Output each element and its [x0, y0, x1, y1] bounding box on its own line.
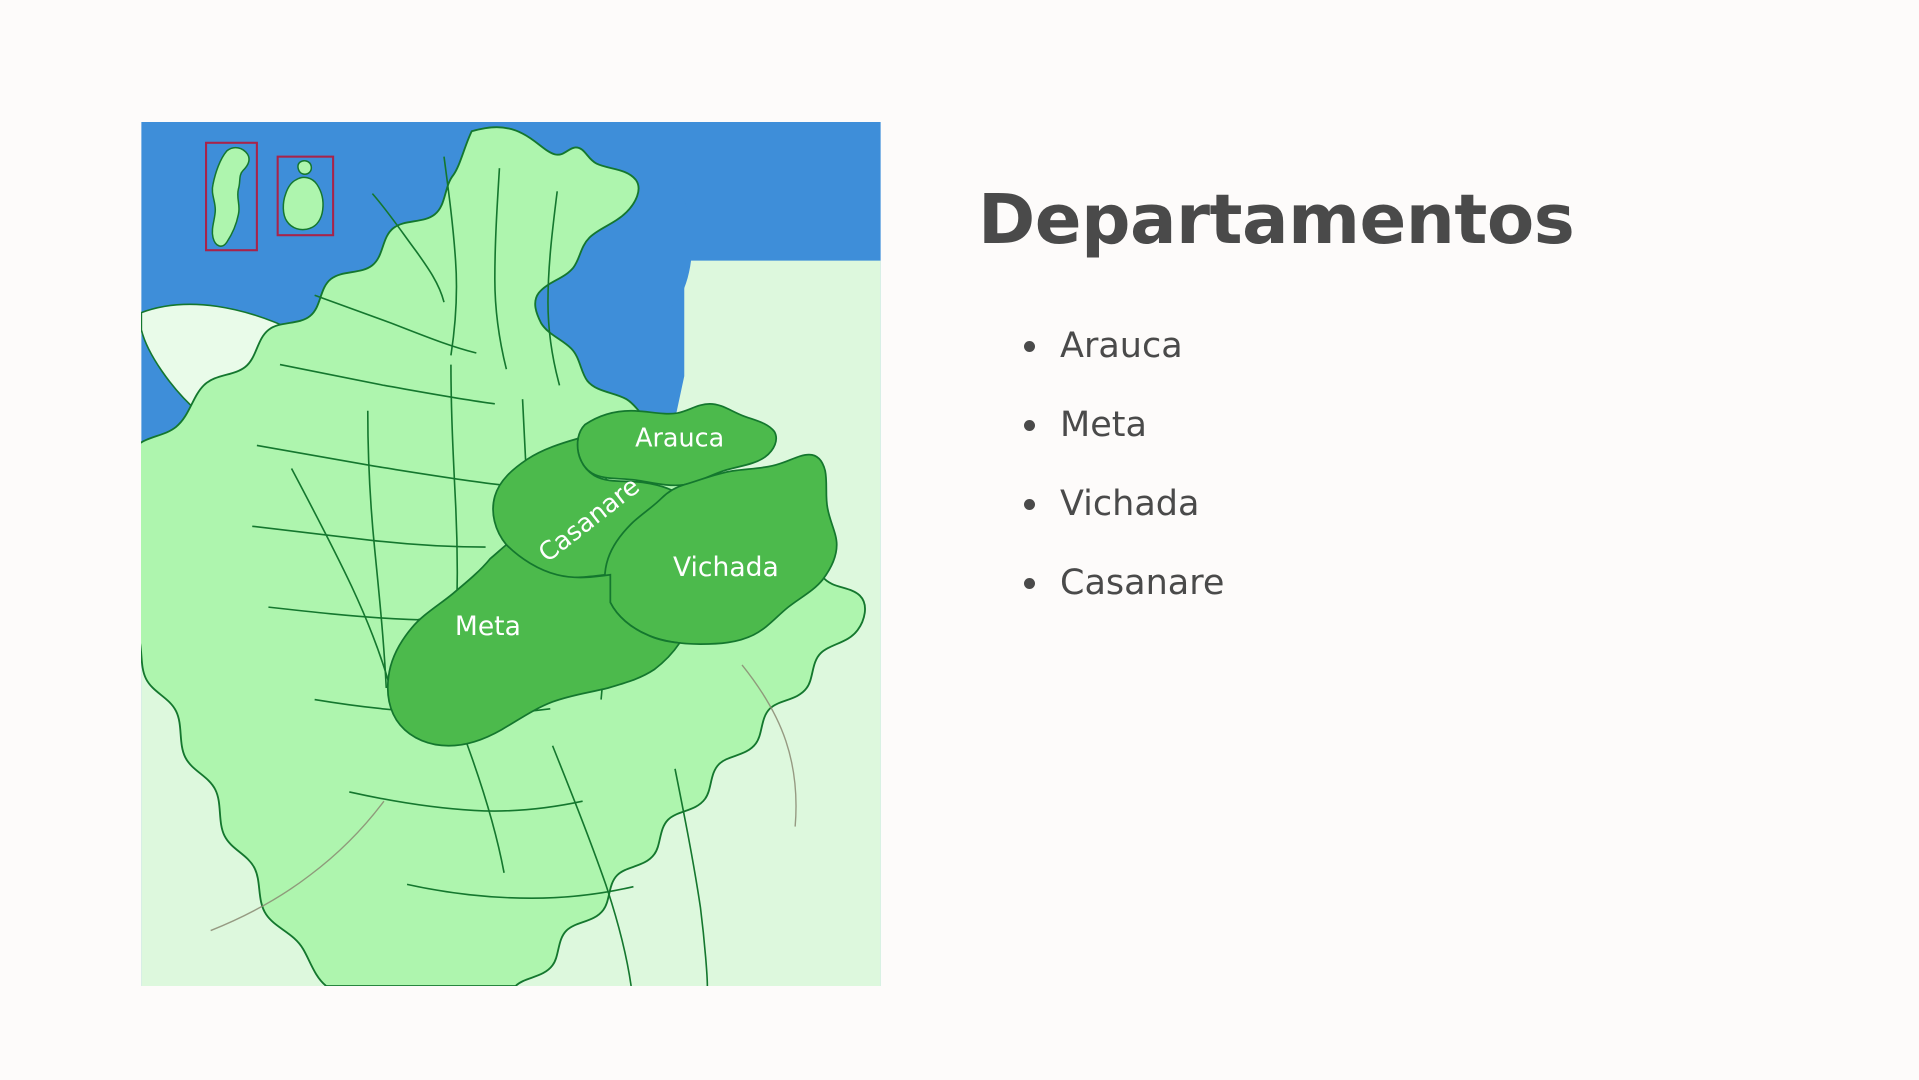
bullet-icon: [1024, 420, 1035, 431]
list-item-label: Vichada: [1060, 484, 1199, 524]
map-label-arauca: Arauca: [635, 423, 724, 453]
list-item-label: Arauca: [1060, 326, 1183, 366]
list-item-vichada[interactable]: Vichada: [1024, 487, 1798, 522]
departments-list: Arauca Meta Vichada Casanare: [1024, 329, 1798, 601]
bullet-icon: [1024, 341, 1035, 352]
page-title: Departamentos: [978, 186, 1798, 255]
list-item-arauca[interactable]: Arauca: [1024, 329, 1798, 364]
map-label-vichada: Vichada: [673, 552, 779, 583]
list-item-label: Casanare: [1060, 563, 1224, 603]
map-label-meta: Meta: [455, 611, 521, 642]
content-panel: Departamentos Arauca Meta Vichada Casana…: [978, 186, 1798, 645]
providencia-islet: [298, 161, 311, 174]
list-item-label: Meta: [1060, 405, 1147, 445]
list-item-casanare[interactable]: Casanare: [1024, 566, 1798, 601]
list-item-meta[interactable]: Meta: [1024, 408, 1798, 443]
slide-canvas: Arauca Casanare Vichada Meta Departament…: [0, 0, 1919, 1080]
providencia-island: [283, 177, 323, 229]
colombia-map-svg: Arauca Casanare Vichada Meta: [141, 122, 881, 986]
bullet-icon: [1024, 499, 1035, 510]
colombia-map: Arauca Casanare Vichada Meta: [141, 122, 881, 986]
bullet-icon: [1024, 578, 1035, 589]
